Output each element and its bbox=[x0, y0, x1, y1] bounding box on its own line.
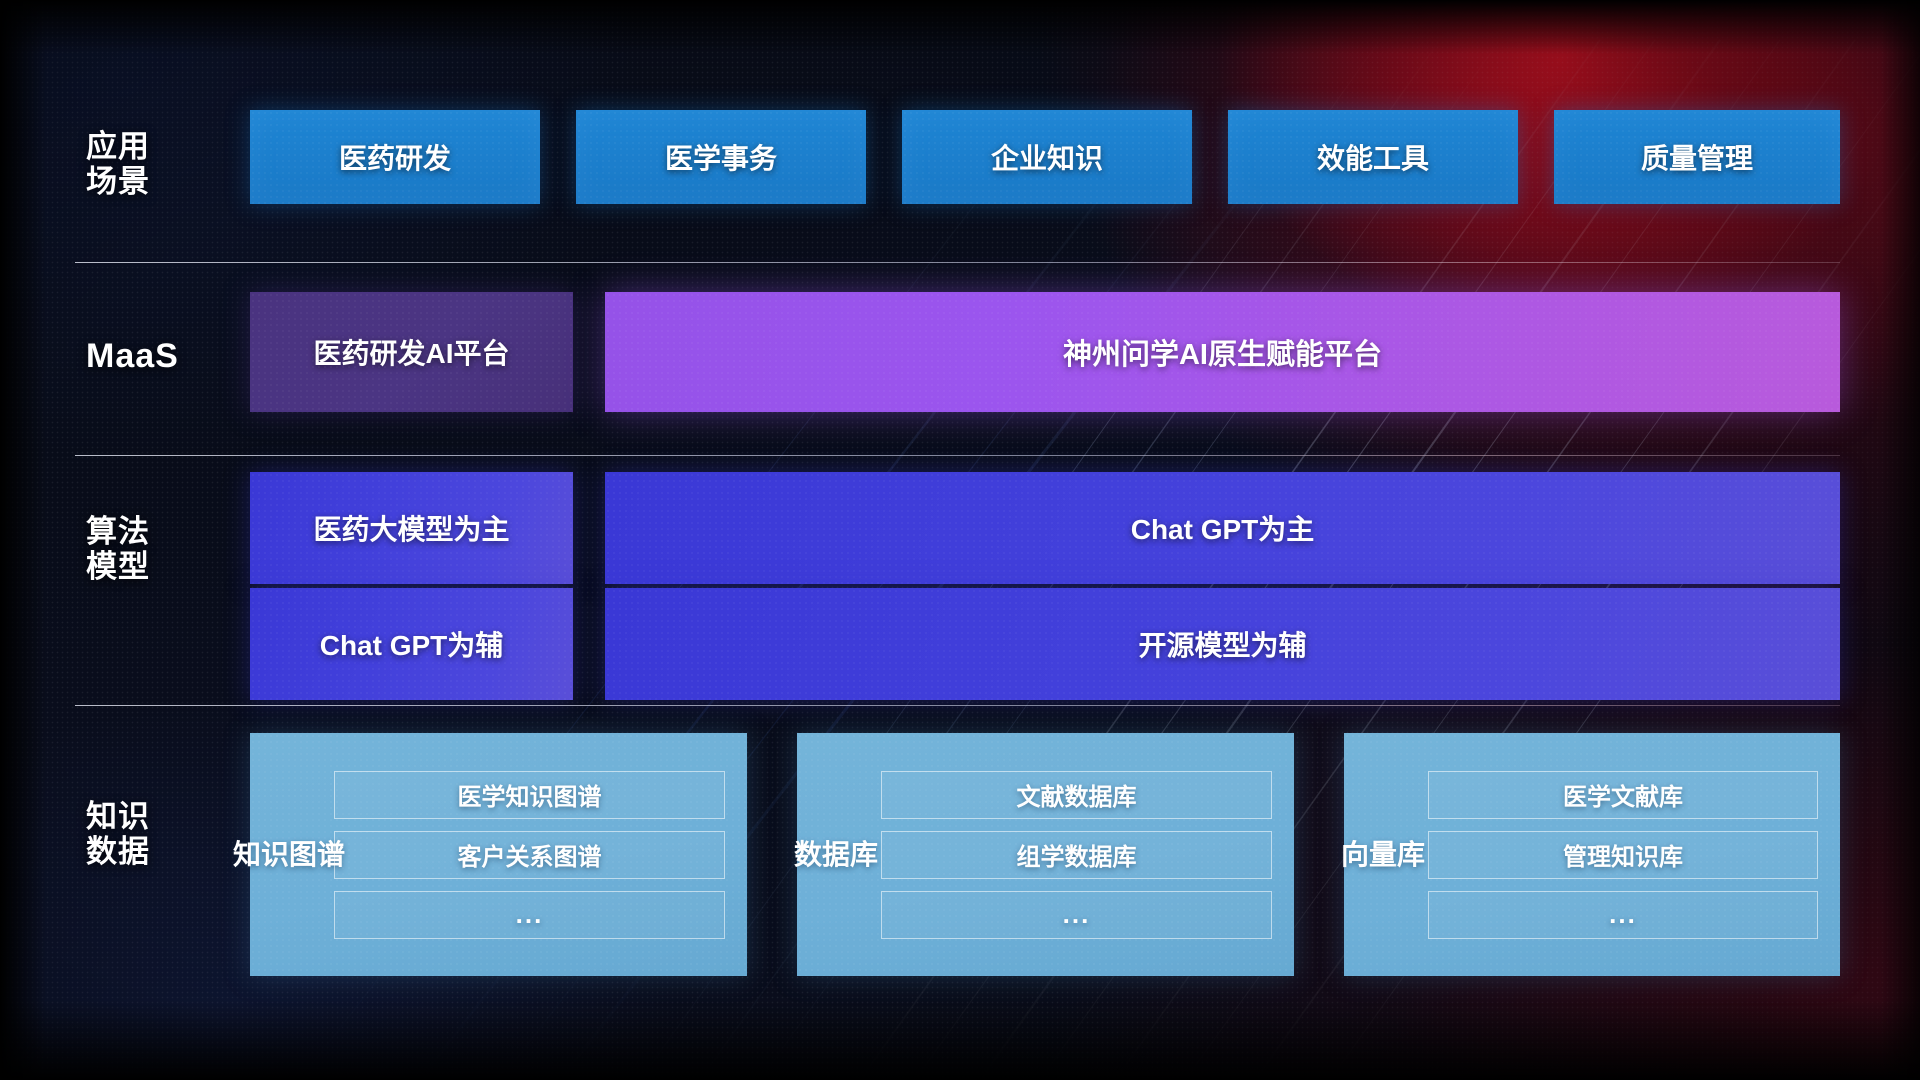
algorithm-box-label: 开源模型为辅 bbox=[1138, 624, 1306, 664]
knowledge-panel-graph-title: 知识图谱 bbox=[250, 839, 328, 870]
maas-platform-box[interactable]: 医药研发AI平台 bbox=[250, 292, 573, 412]
application-box-2[interactable]: 医学事务 bbox=[576, 110, 866, 204]
tier-label-knowledge: 知识 数据 bbox=[86, 800, 214, 869]
tier-label-application: 应用 场景 bbox=[86, 130, 214, 199]
edge-fade-left bbox=[0, 0, 46, 1080]
tier-label-line: 算法 bbox=[86, 515, 214, 550]
maas-platform-label: 医药研发AI平台 bbox=[313, 332, 509, 372]
knowledge-item[interactable]: 医学文献库 bbox=[1428, 771, 1818, 819]
algorithm-row1-right-box[interactable]: Chat GPT为主 bbox=[605, 472, 1840, 584]
tier-label-line: 应用 bbox=[86, 130, 214, 165]
divider-algorithm-knowledge bbox=[75, 705, 1840, 706]
divider-application-maas bbox=[75, 262, 1840, 263]
knowledge-item[interactable]: 组学数据库 bbox=[881, 831, 1272, 879]
edge-fade-bottom bbox=[0, 1000, 1920, 1080]
application-box-label: 医药研发 bbox=[339, 137, 451, 177]
application-box-label: 企业知识 bbox=[991, 137, 1103, 177]
algorithm-box-label: Chat GPT为主 bbox=[1131, 508, 1315, 548]
knowledge-item-more[interactable]: ... bbox=[1428, 891, 1818, 939]
knowledge-panel-database-items: 文献数据库 组学数据库 ... bbox=[875, 771, 1294, 939]
knowledge-panel-graph[interactable]: 知识图谱 医学知识图谱 客户关系图谱 ... bbox=[250, 733, 747, 976]
knowledge-item-more[interactable]: ... bbox=[334, 891, 725, 939]
tier-label-maas: MaaS bbox=[86, 337, 214, 375]
knowledge-item[interactable]: 医学知识图谱 bbox=[334, 771, 725, 819]
algorithm-box-label: 医药大模型为主 bbox=[313, 508, 509, 548]
architecture-diagram: 应用 场景 医药研发 医学事务 企业知识 效能工具 质量管理 MaaS 医药研发… bbox=[0, 0, 1920, 1080]
edge-fade-right bbox=[1880, 0, 1920, 1080]
tier-label-line: 模型 bbox=[86, 550, 214, 585]
application-box-4[interactable]: 效能工具 bbox=[1228, 110, 1518, 204]
algorithm-box-label: Chat GPT为辅 bbox=[320, 624, 504, 664]
application-box-3[interactable]: 企业知识 bbox=[902, 110, 1192, 204]
application-box-1[interactable]: 医药研发 bbox=[250, 110, 540, 204]
divider-maas-algorithm bbox=[75, 455, 1840, 456]
tier-label-algorithm: 算法 模型 bbox=[86, 515, 214, 584]
edge-fade-top bbox=[0, 0, 1920, 54]
knowledge-item[interactable]: 文献数据库 bbox=[881, 771, 1272, 819]
knowledge-panel-vector-items: 医学文献库 管理知识库 ... bbox=[1422, 771, 1840, 939]
knowledge-item[interactable]: 管理知识库 bbox=[1428, 831, 1818, 879]
application-box-label: 质量管理 bbox=[1641, 137, 1753, 177]
knowledge-item-more[interactable]: ... bbox=[881, 891, 1272, 939]
application-box-5[interactable]: 质量管理 bbox=[1554, 110, 1840, 204]
knowledge-panel-database-title: 数据库 bbox=[797, 839, 875, 870]
maas-enablement-platform-box[interactable]: 神州问学AI原生赋能平台 bbox=[605, 292, 1840, 412]
tier-label-line: 知识 bbox=[86, 800, 214, 835]
tier-label-line: 场景 bbox=[86, 165, 214, 200]
application-box-label: 医学事务 bbox=[665, 137, 777, 177]
algorithm-row1-left-box[interactable]: 医药大模型为主 bbox=[250, 472, 573, 584]
maas-enablement-platform-label: 神州问学AI原生赋能平台 bbox=[1063, 331, 1382, 373]
application-box-label: 效能工具 bbox=[1317, 137, 1429, 177]
algorithm-row2-right-box[interactable]: 开源模型为辅 bbox=[605, 588, 1840, 700]
tier-label-line: MaaS bbox=[86, 337, 214, 375]
algorithm-row2-left-box[interactable]: Chat GPT为辅 bbox=[250, 588, 573, 700]
knowledge-panel-database[interactable]: 数据库 文献数据库 组学数据库 ... bbox=[797, 733, 1294, 976]
knowledge-panel-vector[interactable]: 向量库 医学文献库 管理知识库 ... bbox=[1344, 733, 1840, 976]
knowledge-panel-graph-items: 医学知识图谱 客户关系图谱 ... bbox=[328, 771, 747, 939]
tier-label-line: 数据 bbox=[86, 835, 214, 870]
knowledge-panel-vector-title: 向量库 bbox=[1344, 839, 1422, 870]
knowledge-item[interactable]: 客户关系图谱 bbox=[334, 831, 725, 879]
